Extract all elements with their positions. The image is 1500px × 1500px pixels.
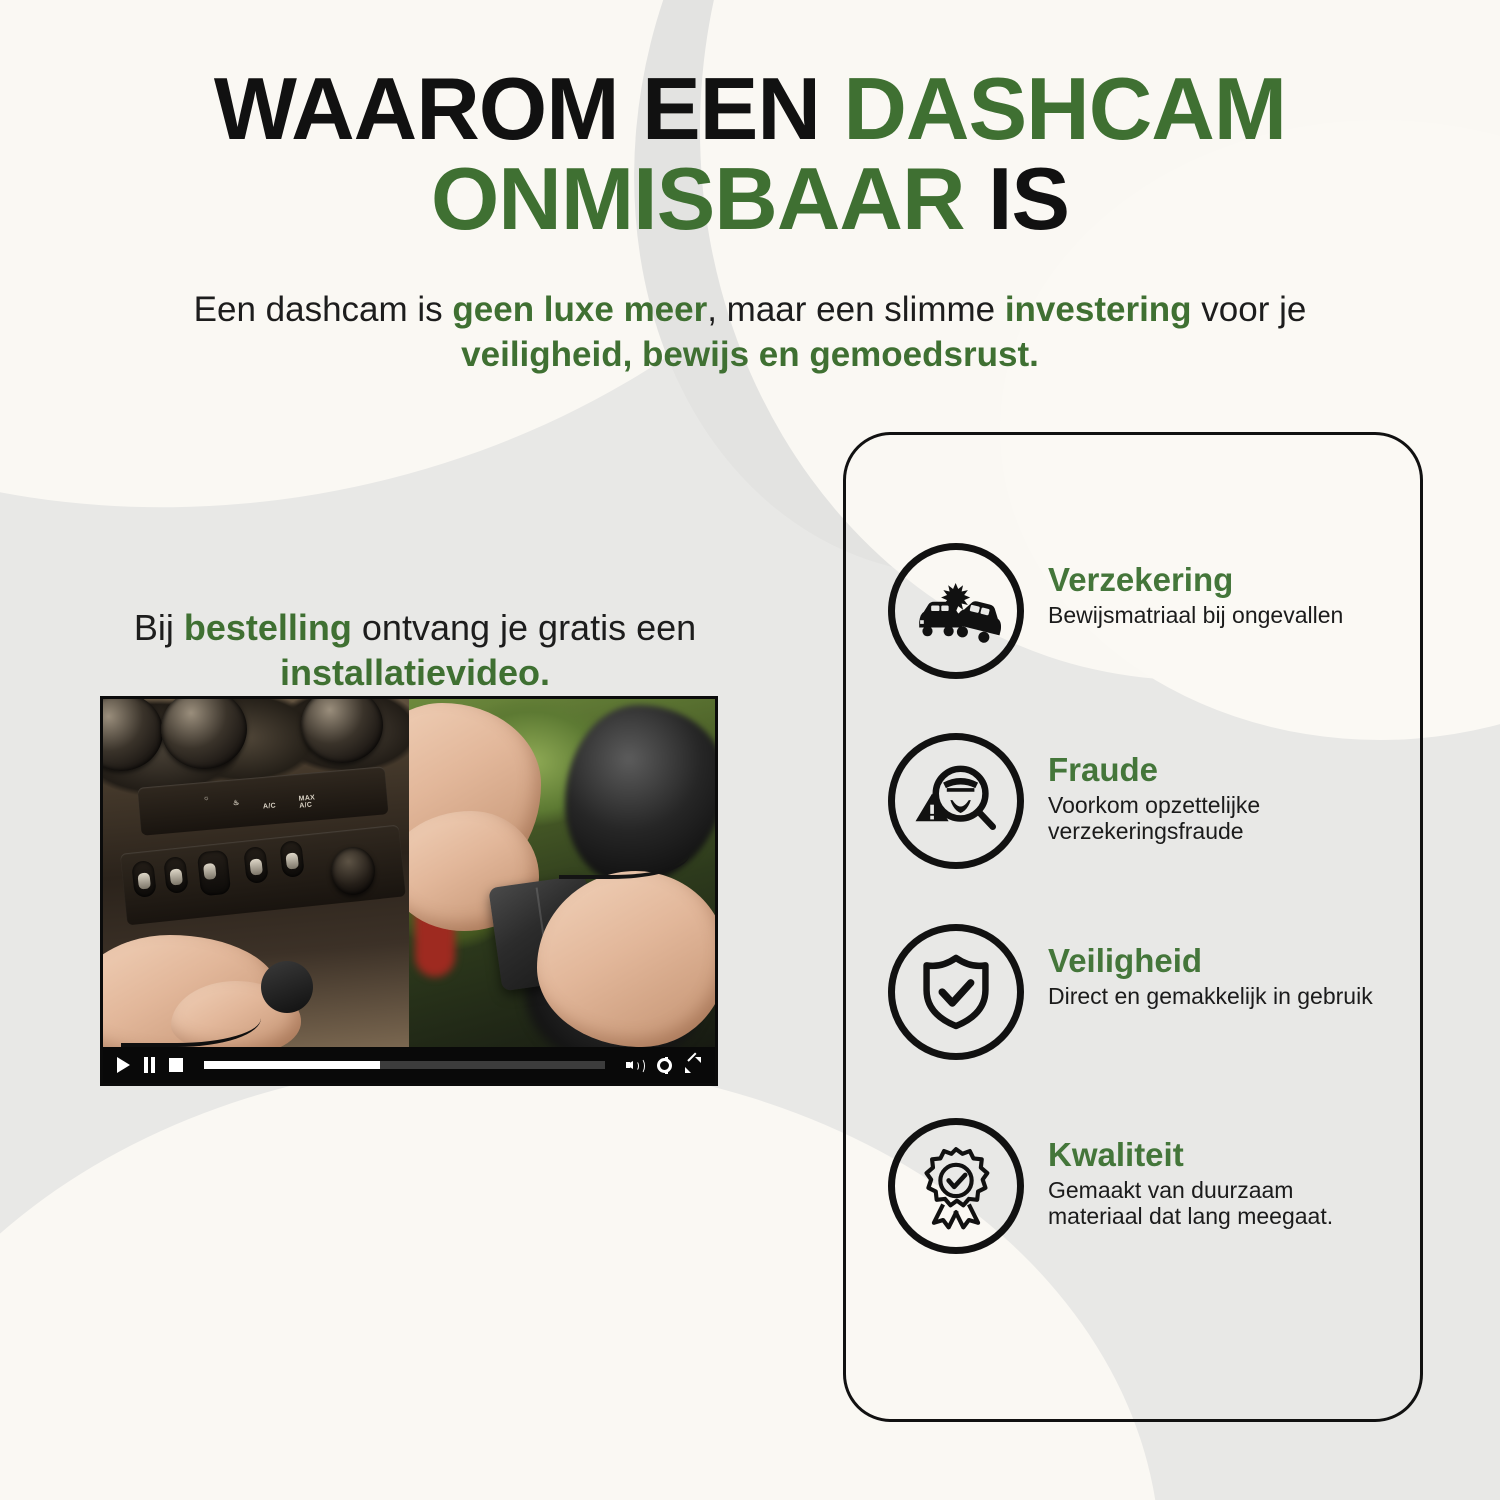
car-crash-icon [888, 543, 1024, 679]
quality-badge-icon [888, 1118, 1024, 1254]
video-player[interactable]: ☼ ♨ A/C MAXA/C [100, 696, 718, 1086]
video-promo-text: Bij bestelling ontvang je gratis een ins… [95, 605, 735, 695]
play-icon[interactable] [117, 1057, 130, 1073]
feature-item-fraude: Fraude Voorkom opzettelijke verzekerings… [888, 733, 1388, 869]
shield-check-icon [888, 924, 1024, 1060]
feature-title: Verzekering [1048, 563, 1343, 598]
subtitle-text-1: Een dashcam is [194, 290, 453, 329]
headline-part-dashcam: DASHCAM [843, 59, 1286, 158]
gear-icon[interactable] [657, 1058, 672, 1073]
promo-highlight-bestelling: bestelling [184, 607, 352, 648]
headline-line-2: ONMISBAAR IS [0, 154, 1500, 244]
stop-icon[interactable] [169, 1058, 183, 1072]
feature-description: Direct en gemakkelijk in gebruik [1048, 983, 1373, 1010]
feature-description: Gemaakt van duurzaam materiaal dat lang … [1048, 1177, 1378, 1230]
promo-text-1: Bij [134, 607, 184, 648]
feature-description: Bewijsmatriaal bij ongevallen [1048, 602, 1343, 629]
headline-part-waarom-een: WAAROM EEN [214, 59, 843, 158]
page-title: WAAROM EEN DASHCAM ONMISBAAR IS [0, 64, 1500, 244]
video-progress-fill [204, 1061, 380, 1069]
subtitle-highlight-1: geen luxe meer [452, 290, 707, 329]
headline-part-onmisbaar: ONMISBAAR [431, 149, 988, 248]
feature-title: Veiligheid [1048, 944, 1373, 979]
feature-description: Voorkom opzettelijke verzekeringsfraude [1048, 792, 1378, 845]
subtitle-text-3: voor je [1192, 290, 1307, 329]
pause-icon[interactable] [143, 1057, 156, 1073]
feature-item-verzekering: Verzekering Bewijsmatriaal bij ongevalle… [888, 543, 1388, 679]
video-frame[interactable]: ☼ ♨ A/C MAXA/C [103, 699, 715, 1047]
video-progress-bar[interactable] [204, 1061, 605, 1069]
promo-text-2: ontvang je gratis een [352, 607, 696, 648]
subtitle-highlight-3: veiligheid, bewijs en gemoedsrust. [461, 335, 1039, 374]
fraud-magnifier-icon [888, 733, 1024, 869]
feature-item-veiligheid: Veiligheid Direct en gemakkelijk in gebr… [888, 924, 1388, 1060]
subtitle: Een dashcam is geen luxe meer, maar een … [160, 288, 1340, 378]
headline-part-is: IS [988, 149, 1069, 248]
video-scene-dashcam-in-hand [409, 699, 715, 1047]
subtitle-text-2: , maar een slimme [707, 290, 1005, 329]
fullscreen-icon[interactable] [685, 1057, 701, 1073]
video-controls-bar[interactable] [103, 1047, 715, 1083]
feature-title: Fraude [1048, 753, 1378, 788]
video-scene-dashboard: ☼ ♨ A/C MAXA/C [103, 699, 409, 1047]
feature-item-kwaliteit: Kwaliteit Gemaakt van duurzaam materiaal… [888, 1118, 1388, 1254]
feature-card: Verzekering Bewijsmatriaal bij ongevalle… [843, 432, 1423, 1422]
headline-line-1: WAAROM EEN DASHCAM [0, 64, 1500, 154]
promo-highlight-installatievideo: installatievideo. [280, 652, 550, 693]
subtitle-highlight-2: investering [1005, 290, 1192, 329]
volume-icon[interactable] [626, 1057, 644, 1073]
feature-title: Kwaliteit [1048, 1138, 1378, 1173]
